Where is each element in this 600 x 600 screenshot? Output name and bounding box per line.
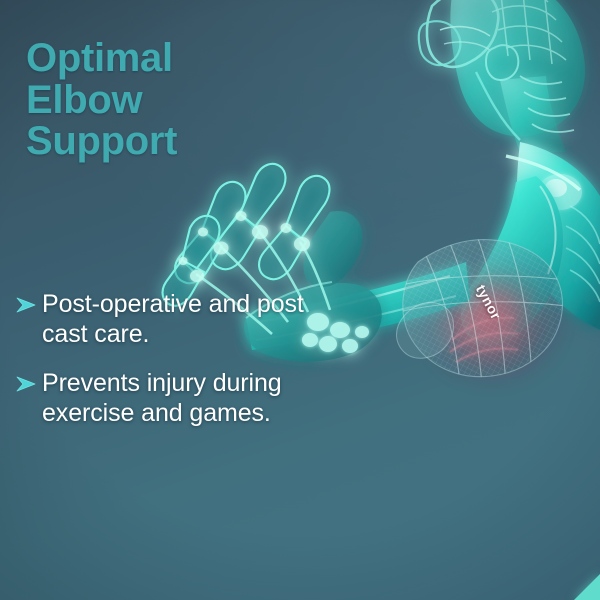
headline-line-3: Support bbox=[26, 121, 177, 163]
xray-shoulder-icon bbox=[506, 142, 600, 330]
xray-spine-icon bbox=[476, 72, 574, 152]
brand-logo: tynor bbox=[473, 282, 504, 322]
arrowhead-bullet-icon bbox=[16, 297, 42, 313]
list-item: Prevents injury during exercise and game… bbox=[16, 369, 346, 428]
corner-accent-triangle bbox=[574, 574, 600, 600]
list-item: Post-operative and post cast care. bbox=[16, 290, 346, 349]
arrowhead-bullet-icon bbox=[16, 376, 42, 392]
list-item-label: Prevents injury during exercise and game… bbox=[42, 369, 346, 428]
xray-skull-icon bbox=[419, 0, 585, 137]
poster-canvas: Optimal Elbow Support Post-operative and… bbox=[0, 0, 600, 600]
feature-list: Post-operative and post cast care. Preve… bbox=[16, 290, 346, 448]
headline-line-1: Optimal bbox=[26, 38, 177, 80]
list-item-label: Post-operative and post cast care. bbox=[42, 290, 346, 349]
headline-line-2: Elbow bbox=[26, 80, 177, 122]
page-title: Optimal Elbow Support bbox=[26, 38, 177, 163]
xray-upper-arm-icon bbox=[461, 176, 563, 346]
